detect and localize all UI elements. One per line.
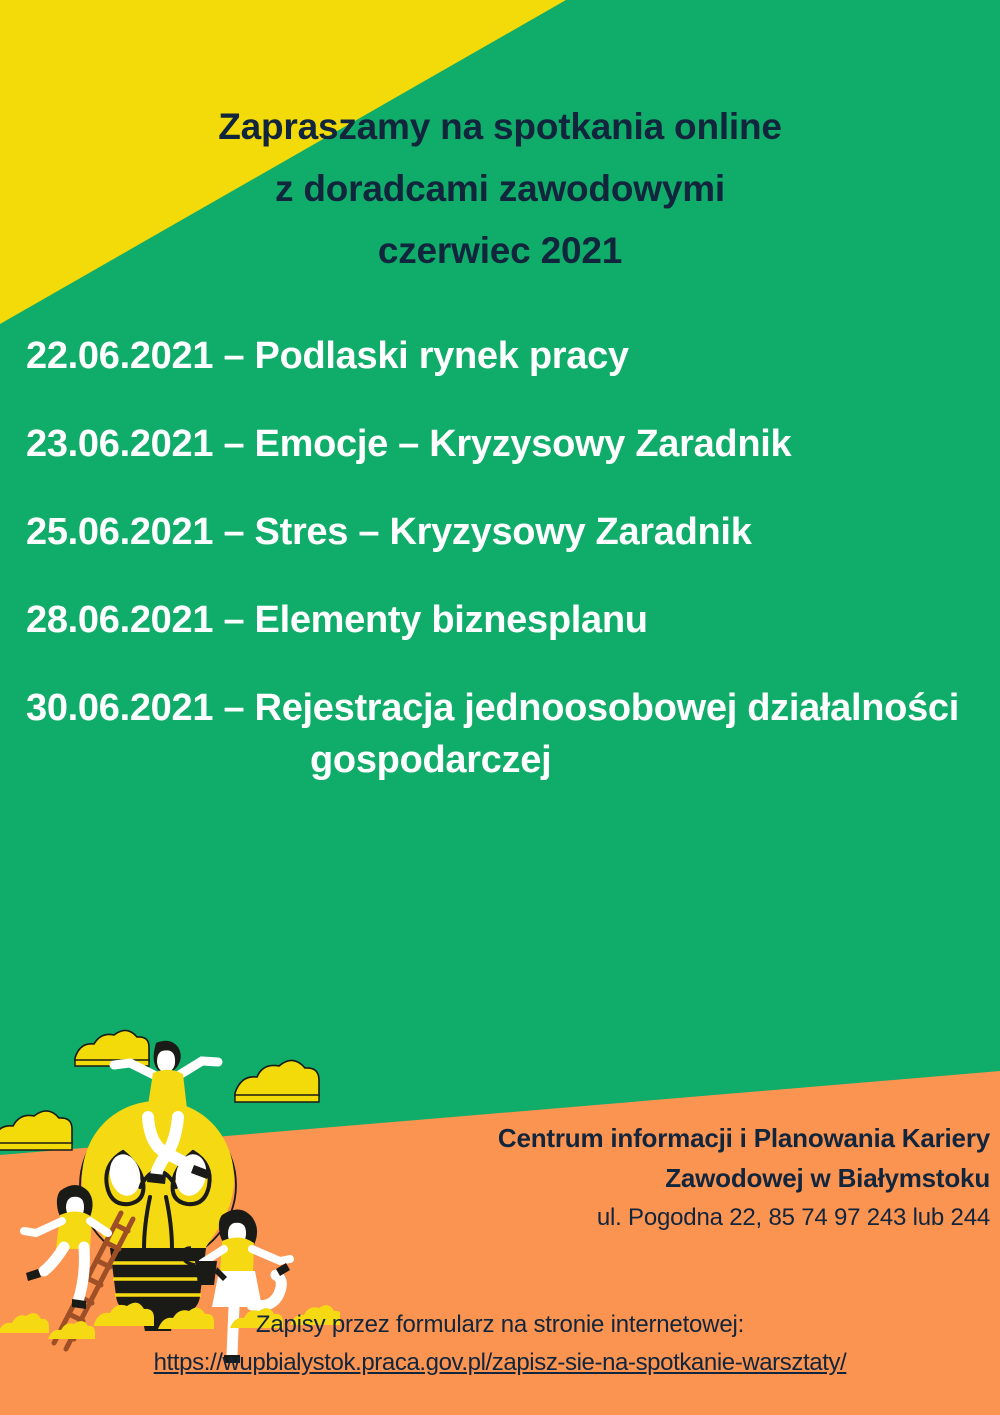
page-title: Zapraszamy na spotkania online z doradca… xyxy=(0,96,1000,282)
schedule-item-title: Stres – Kryzysowy Zaradnik xyxy=(255,511,752,553)
schedule-item-date: 28.06.2021 – xyxy=(26,599,255,641)
schedule-item: 28.06.2021 – Elementy biznesplanu xyxy=(26,594,974,646)
heading-line-1: Zapraszamy na spotkania online xyxy=(0,96,1000,158)
schedule-item-title: Emocje – Kryzysowy Zaradnik xyxy=(255,423,792,465)
heading-line-3: czerwiec 2021 xyxy=(0,220,1000,282)
schedule-item-date: 22.06.2021 – xyxy=(26,335,255,377)
signup-url-link[interactable]: https://wupbialystok.praca.gov.pl/zapisz… xyxy=(154,1346,847,1380)
cloud-icon xyxy=(235,1060,319,1102)
schedule-item-date: 25.06.2021 – xyxy=(26,511,255,553)
schedule-item-title: Podlaski rynek pracy xyxy=(255,335,629,377)
organization-name-line-2: Zawodowej w Białymstoku xyxy=(330,1158,990,1198)
schedule-item-date: 30.06.2021 – xyxy=(26,687,255,729)
schedule-item-date: 23.06.2021 – xyxy=(26,423,255,465)
poster-canvas: Zapraszamy na spotkania online z doradca… xyxy=(0,0,1000,1415)
schedule-item-title: Rejestracja jednoosobowej działalności g… xyxy=(255,687,959,781)
signup-instruction: Zapisy przez formularz na stronie intern… xyxy=(0,1308,1000,1342)
schedule-item: 25.06.2021 – Stres – Kryzysowy Zaradnik xyxy=(26,506,974,558)
contact-block: Centrum informacji i Planowania Kariery … xyxy=(330,1118,990,1236)
schedule-item: 30.06.2021 – Rejestracja jednoosobowej d… xyxy=(26,682,974,786)
cloud-icon xyxy=(75,1030,149,1066)
schedule-list: 22.06.2021 – Podlaski rynek pracy 23.06.… xyxy=(26,330,974,822)
heading-line-2: z doradcami zawodowymi xyxy=(0,158,1000,220)
signup-block: Zapisy przez formularz na stronie intern… xyxy=(0,1308,1000,1380)
schedule-item: 22.06.2021 – Podlaski rynek pracy xyxy=(26,330,974,382)
schedule-item: 23.06.2021 – Emocje – Kryzysowy Zaradnik xyxy=(26,418,974,470)
cloud-icon xyxy=(0,1111,72,1150)
contact-address: ul. Pogodna 22, 85 74 97 243 lub 244 xyxy=(330,1200,990,1236)
schedule-item-title: Elementy biznesplanu xyxy=(255,599,648,641)
organization-name-line-1: Centrum informacji i Planowania Kariery xyxy=(330,1118,990,1158)
